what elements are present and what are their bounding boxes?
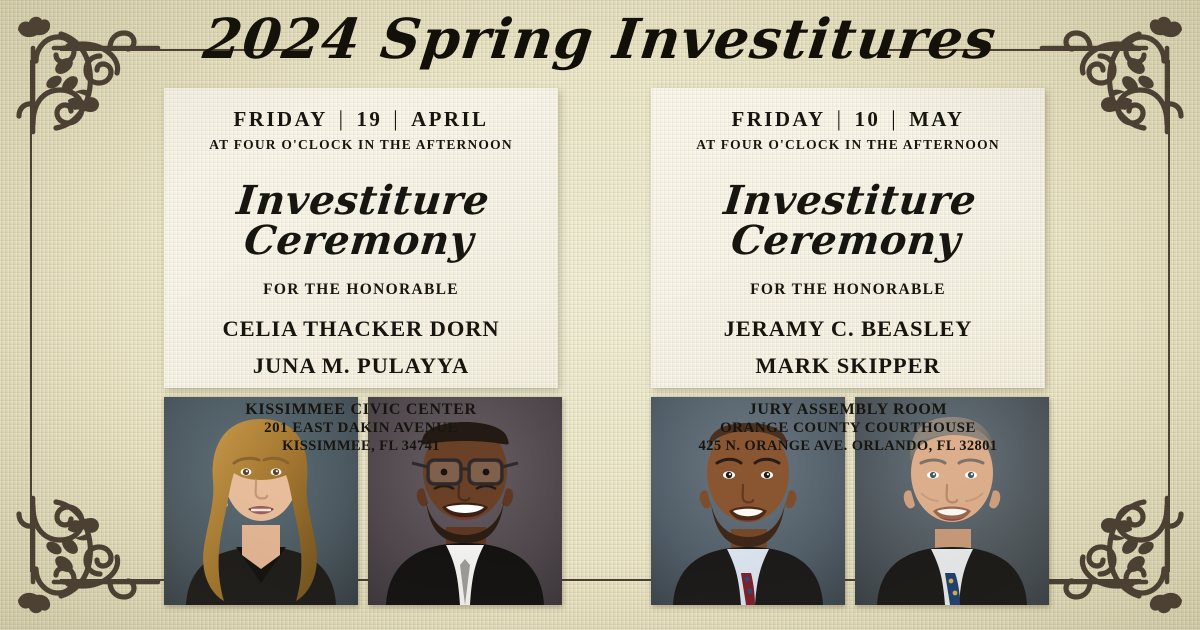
time-line: AT FOUR O'CLOCK IN THE AFTERNOON <box>651 137 1045 153</box>
venue-city: KISSIMMEE, FL 34741 <box>164 438 558 455</box>
corner-ornament-bottom-right-icon <box>1034 466 1194 626</box>
day-name: FRIDAY <box>223 107 339 132</box>
ceremony-heading: Investiture Ceremony <box>647 181 1049 261</box>
date-line: FRIDAY | 10 | MAY <box>651 106 1045 132</box>
venue-name: KISSIMMEE CIVIC CENTER <box>164 401 558 420</box>
venue-street: 201 EAST DAKIN AVENUE <box>164 420 558 438</box>
honoree-name: MARK SKIPPER <box>651 353 1045 379</box>
venue-block: KISSIMMEE CIVIC CENTER 201 EAST DAKIN AV… <box>164 401 558 455</box>
corner-ornament-bottom-left-icon <box>6 466 166 626</box>
date-separator: | <box>837 106 844 132</box>
date-separator: | <box>393 106 400 132</box>
honoree-name: CELIA THACKER DORN <box>164 316 558 342</box>
day-number: 10 <box>843 107 891 132</box>
venue-street: ORANGE COUNTY COURTHOUSE <box>651 420 1045 438</box>
date-line: FRIDAY | 19 | APRIL <box>164 106 558 132</box>
honoree-name: JUNA M. PULAYYA <box>164 353 558 379</box>
venue-city: 425 N. ORANGE AVE. ORLANDO, FL 32801 <box>651 438 1045 455</box>
date-separator: | <box>891 106 898 132</box>
venue-block: JURY ASSEMBLY ROOM ORANGE COUNTY COURTHO… <box>651 401 1045 455</box>
honorific-label: FOR THE HONORABLE <box>651 281 1045 299</box>
venue-name: JURY ASSEMBLY ROOM <box>651 401 1045 420</box>
date-separator: | <box>339 106 346 132</box>
page-title: 2024 Spring Investitures <box>0 6 1200 71</box>
ceremony-heading: Investiture Ceremony <box>160 181 562 261</box>
month-name: APRIL <box>400 107 499 132</box>
day-number: 19 <box>345 107 393 132</box>
month-name: MAY <box>898 107 975 132</box>
day-name: FRIDAY <box>720 107 836 132</box>
invitation-card-april: FRIDAY | 19 | APRIL AT FOUR O'CLOCK IN T… <box>164 88 558 388</box>
invitation-card-may: FRIDAY | 10 | MAY AT FOUR O'CLOCK IN THE… <box>651 88 1045 388</box>
honorific-label: FOR THE HONORABLE <box>164 281 558 299</box>
time-line: AT FOUR O'CLOCK IN THE AFTERNOON <box>164 137 558 153</box>
honoree-name: JERAMY C. BEASLEY <box>651 316 1045 342</box>
